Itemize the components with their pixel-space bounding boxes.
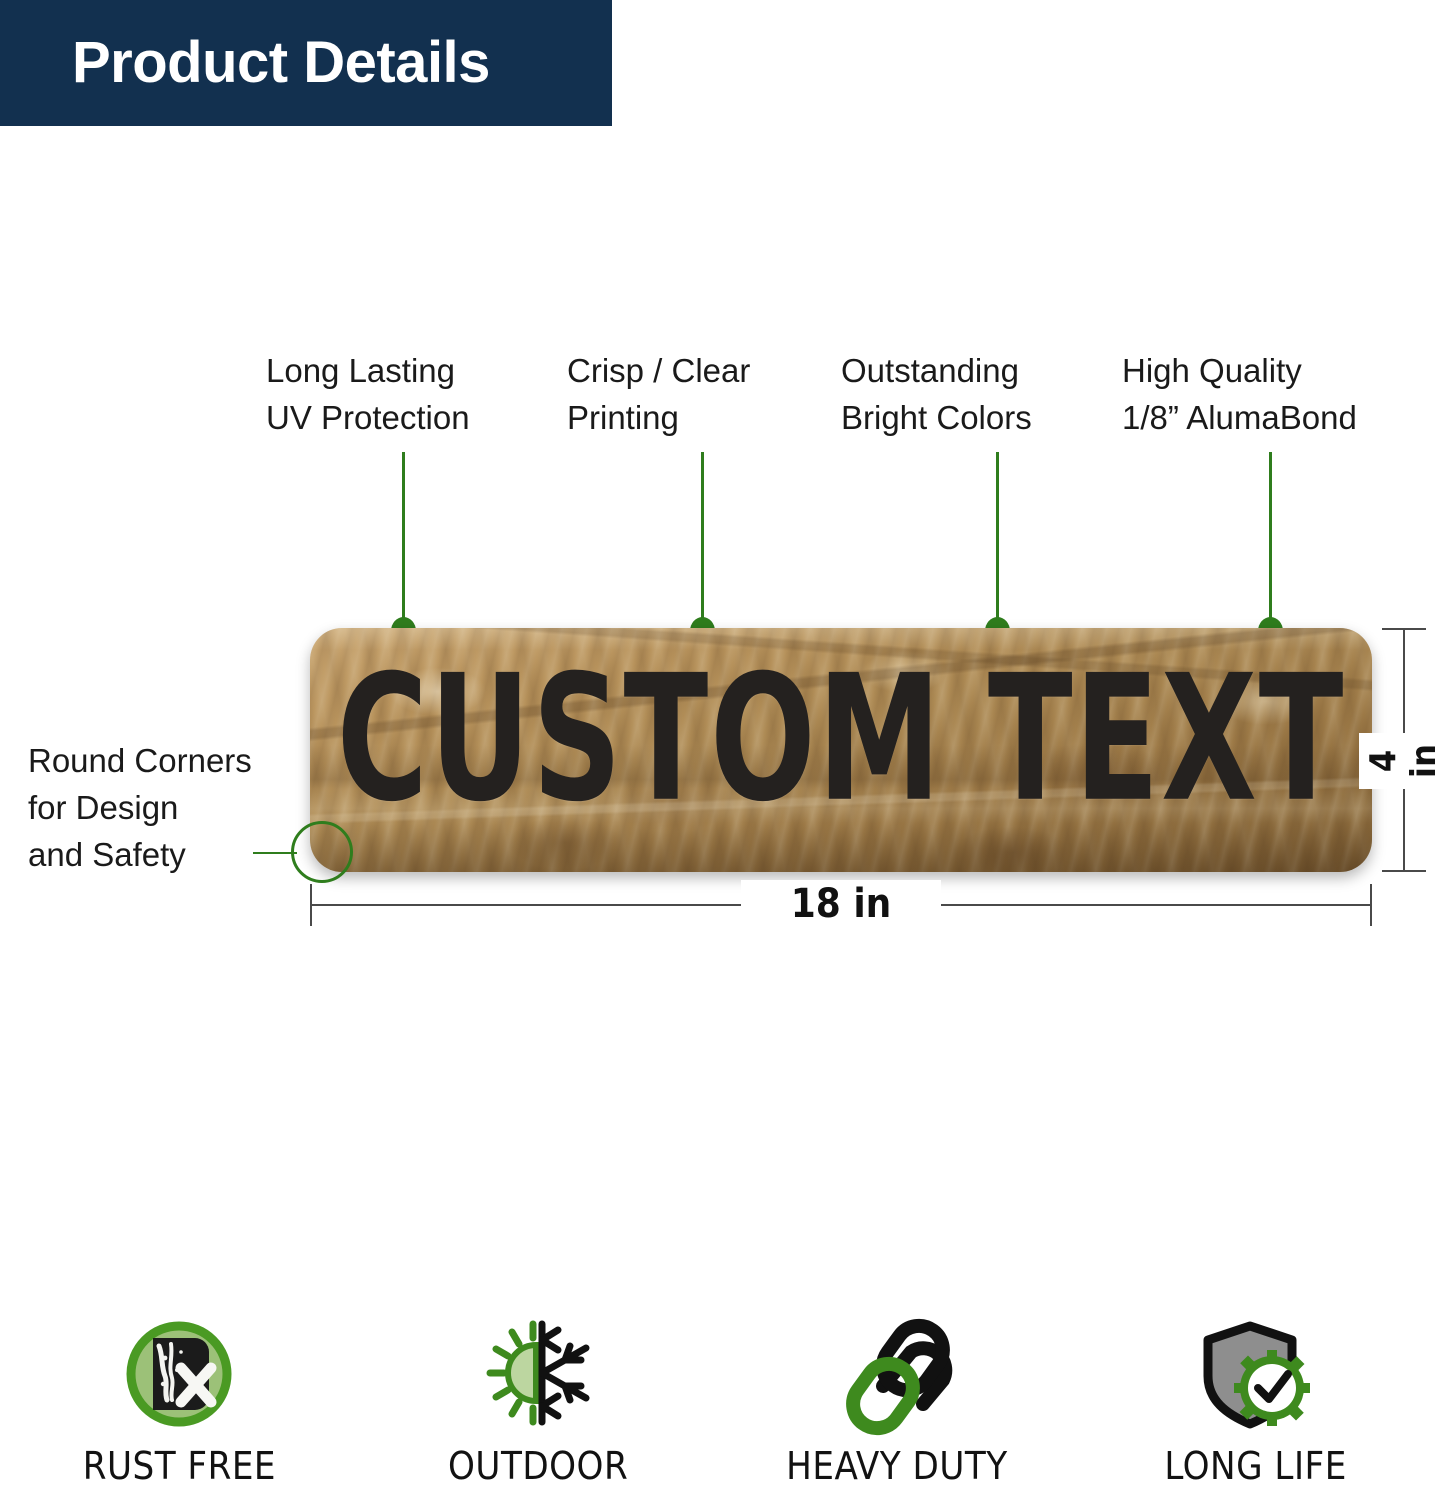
outdoor-sun-snowflake-icon	[478, 1318, 598, 1436]
dimension-height: 4 in	[1378, 628, 1430, 872]
chain-links-icon	[837, 1318, 957, 1436]
feature-long-life: LONG LIFE	[1076, 1318, 1435, 1500]
shield-clock-icon	[1196, 1318, 1316, 1436]
leader-line-uv-protection	[402, 452, 405, 632]
feature-rust-free: RUST FREE	[0, 1318, 359, 1500]
feature-outdoor: OUTDOOR	[359, 1318, 718, 1500]
dimension-width-label: 18 in	[741, 880, 941, 928]
page-title: Product Details	[72, 34, 490, 92]
feature-label-long-life: LONG LIFE	[1164, 1444, 1346, 1488]
callout-line-2: UV Protection	[266, 395, 470, 442]
dimension-width-cap-right	[1370, 884, 1372, 926]
callout-label-round-corners: Round Corners for Design and Safety	[28, 738, 252, 879]
callout-label-bright-colors: Outstanding Bright Colors	[841, 348, 1032, 442]
callout-line-2: Printing	[567, 395, 750, 442]
callout-label-high-quality-alumabond: High Quality 1/8” AlumaBond	[1122, 348, 1357, 442]
callout-label-uv-protection: Long Lasting UV Protection	[266, 348, 470, 442]
product-sign: CUSTOM TEXT	[310, 628, 1372, 872]
callout-line-3: and Safety	[28, 832, 252, 879]
round-corner-highlight-circle	[291, 821, 353, 883]
feature-badges-row: RUST FREE	[0, 1318, 1435, 1500]
dimension-width: 18 in	[310, 880, 1372, 928]
callout-line-1: Crisp / Clear	[567, 348, 750, 395]
leader-line-alumabond	[1269, 452, 1272, 632]
feature-label-outdoor: OUTDOOR	[448, 1444, 628, 1488]
callout-line-2: for Design	[28, 785, 252, 832]
leader-line-printing	[701, 452, 704, 632]
callout-line-1: High Quality	[1122, 348, 1357, 395]
callout-line-2: Bright Colors	[841, 395, 1032, 442]
callout-label-crisp-clear-printing: Crisp / Clear Printing	[567, 348, 750, 442]
header-banner: Product Details	[0, 0, 612, 126]
callout-line-1: Outstanding	[841, 348, 1032, 395]
dimension-height-cap-bottom	[1382, 870, 1426, 872]
rust-free-icon	[119, 1318, 239, 1436]
leader-line-bright-colors	[996, 452, 999, 632]
dimension-height-label: 4 in	[1359, 733, 1435, 789]
feature-label-heavy-duty: HEAVY DUTY	[786, 1444, 1007, 1488]
feature-label-rust-free: RUST FREE	[83, 1444, 276, 1488]
callout-line-1: Long Lasting	[266, 348, 470, 395]
feature-heavy-duty: HEAVY DUTY	[718, 1318, 1077, 1500]
callout-line-2: 1/8” AlumaBond	[1122, 395, 1357, 442]
callout-line-1: Round Corners	[28, 738, 252, 785]
sign-custom-text: CUSTOM TEXT	[352, 628, 1329, 872]
